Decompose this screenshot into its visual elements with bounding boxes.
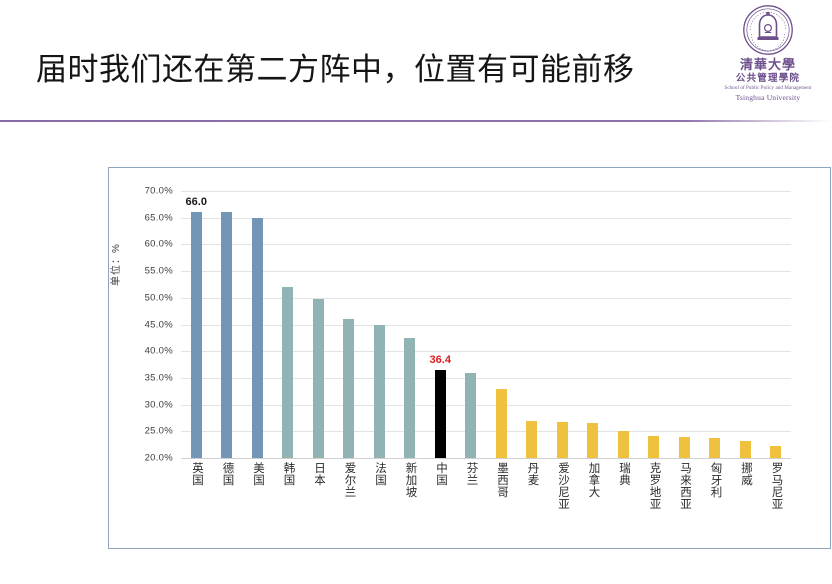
x-axis-category-label: 克罗地亚	[648, 462, 660, 548]
x-axis-category: 挪威	[730, 462, 761, 548]
bar	[648, 436, 659, 458]
y-axis-tick-label: 20.0%	[145, 453, 173, 464]
x-axis-category: 墨西哥	[486, 462, 517, 548]
x-axis-category-label: 法国	[374, 462, 386, 548]
y-axis-tick-label: 30.0%	[145, 399, 173, 410]
bar-slot	[608, 191, 639, 458]
header-divider	[0, 120, 832, 122]
x-axis-category-label: 美国	[252, 462, 264, 548]
bar	[465, 373, 476, 458]
x-axis-category-label: 芬兰	[465, 462, 477, 548]
x-axis-category: 德国	[212, 462, 243, 548]
x-axis-category: 英国	[181, 462, 212, 548]
y-axis-tick-label: 70.0%	[145, 186, 173, 197]
x-axis-category-label: 爱尔兰	[343, 462, 355, 548]
bar	[374, 325, 385, 459]
x-axis-category: 新加坡	[395, 462, 426, 548]
x-axis-category-label: 匈牙利	[709, 462, 721, 548]
bar-slot	[639, 191, 670, 458]
y-axis-tick-label: 60.0%	[145, 239, 173, 250]
bar	[252, 218, 263, 458]
bar-slot	[700, 191, 731, 458]
y-axis-tick-label: 55.0%	[145, 266, 173, 277]
x-axis-categories: 英国德国美国韩国日本爱尔兰法国新加坡中国芬兰墨西哥丹麦爱沙尼亚加拿大瑞典克罗地亚…	[181, 462, 791, 548]
bar	[435, 370, 446, 458]
bar	[740, 441, 751, 458]
x-axis-category: 罗马尼亚	[761, 462, 792, 548]
logo-school-name-cn: 公共管理學院	[716, 73, 820, 85]
bar	[557, 422, 568, 458]
gridline	[181, 458, 791, 459]
bar-slot	[242, 191, 273, 458]
x-axis-category-label: 韩国	[282, 462, 294, 548]
bar-slot	[273, 191, 304, 458]
y-axis-tick-label: 35.0%	[145, 372, 173, 383]
bar-slot	[547, 191, 578, 458]
y-axis-tick-label: 40.0%	[145, 346, 173, 357]
x-axis-category-label: 日本	[313, 462, 325, 548]
x-axis-category: 克罗地亚	[639, 462, 670, 548]
x-axis-category: 芬兰	[456, 462, 487, 548]
bar	[404, 338, 415, 458]
x-axis-category: 匈牙利	[700, 462, 731, 548]
bar	[618, 431, 629, 458]
bar	[282, 287, 293, 458]
tsinghua-logo: 清華大學 公共管理學院 School of Public Policy and …	[716, 4, 820, 110]
bar-series: 66.036.4	[181, 191, 791, 458]
x-axis-category-label: 墨西哥	[496, 462, 508, 548]
bar-slot	[669, 191, 700, 458]
x-axis-category-label: 瑞典	[618, 462, 630, 548]
page-title: 届时我们还在第二方阵中，位置有可能前移	[36, 44, 635, 89]
x-axis-category: 日本	[303, 462, 334, 548]
x-axis-category-label: 英国	[191, 462, 203, 548]
bar-slot: 36.4	[425, 191, 456, 458]
x-axis-category-label: 爱沙尼亚	[557, 462, 569, 548]
x-axis-category: 中国	[425, 462, 456, 548]
bar-slot	[395, 191, 426, 458]
chart-inner: 单位：% 70.0%65.0%60.0%55.0%50.0%45.0%40.0%…	[109, 168, 830, 548]
y-axis-ticks: 70.0%65.0%60.0%55.0%50.0%45.0%40.0%35.0%…	[109, 191, 177, 458]
y-axis-tick-label: 45.0%	[145, 319, 173, 330]
bar-value-label: 36.4	[430, 354, 451, 366]
slide-header: 届时我们还在第二方阵中，位置有可能前移 清華大學 公共管理學院 School o…	[0, 0, 832, 122]
bar-slot	[303, 191, 334, 458]
bar-slot	[517, 191, 548, 458]
bar-slot	[364, 191, 395, 458]
x-axis-category: 瑞典	[608, 462, 639, 548]
bar	[709, 438, 720, 458]
x-axis-category-label: 德国	[221, 462, 233, 548]
bar	[526, 421, 537, 458]
x-axis-category: 马来西亚	[669, 462, 700, 548]
x-axis-category-label: 丹麦	[526, 462, 538, 548]
bar-slot	[212, 191, 243, 458]
bar-slot	[456, 191, 487, 458]
bar	[191, 212, 202, 458]
bar	[221, 212, 232, 458]
x-axis-category-label: 罗马尼亚	[770, 462, 782, 548]
x-axis-category: 韩国	[273, 462, 304, 548]
bar-slot	[578, 191, 609, 458]
bar-slot	[334, 191, 365, 458]
tsinghua-seal-icon	[742, 4, 794, 56]
bar	[313, 299, 324, 458]
bar-value-label: 66.0	[186, 196, 207, 208]
chart-container: 单位：% 70.0%65.0%60.0%55.0%50.0%45.0%40.0%…	[108, 167, 831, 549]
bar	[587, 423, 598, 458]
y-axis-tick-label: 50.0%	[145, 292, 173, 303]
bar-slot: 66.0	[181, 191, 212, 458]
x-axis-category: 加拿大	[578, 462, 609, 548]
x-axis-category: 法国	[364, 462, 395, 548]
x-axis-category-label: 中国	[435, 462, 447, 548]
bar-slot	[730, 191, 761, 458]
bar-slot	[486, 191, 517, 458]
bar	[770, 446, 781, 458]
x-axis-category-label: 新加坡	[404, 462, 416, 548]
logo-university-name-en: Tsinghua University	[716, 93, 820, 104]
y-axis-tick-label: 25.0%	[145, 426, 173, 437]
plot-area: 66.036.4	[181, 191, 791, 458]
bar	[496, 389, 507, 458]
x-axis-category-label: 加拿大	[587, 462, 599, 548]
bar-slot	[761, 191, 792, 458]
y-axis-tick-label: 65.0%	[145, 212, 173, 223]
x-axis-category: 丹麦	[517, 462, 548, 548]
logo-university-name-cn: 清華大學	[716, 58, 820, 73]
x-axis-category: 爱沙尼亚	[547, 462, 578, 548]
bar	[679, 437, 690, 458]
logo-school-name-en: School of Public Policy and Management	[716, 85, 820, 93]
x-axis-category: 美国	[242, 462, 273, 548]
x-axis-category-label: 挪威	[740, 462, 752, 548]
bar	[343, 319, 354, 458]
x-axis-category: 爱尔兰	[334, 462, 365, 548]
x-axis-category-label: 马来西亚	[679, 462, 691, 548]
